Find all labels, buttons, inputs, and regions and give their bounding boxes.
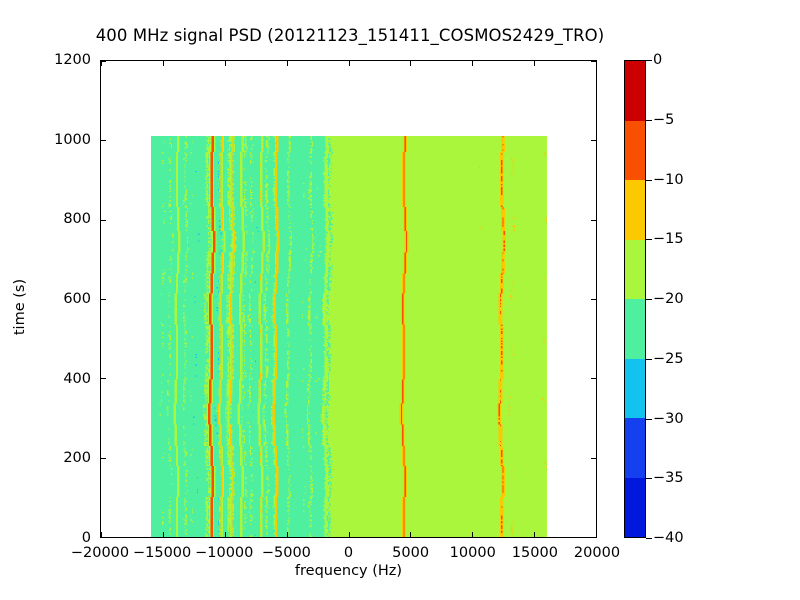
x-tick (225, 532, 226, 537)
y-tick (101, 61, 106, 62)
x-tick-label: 15000 (512, 545, 558, 561)
y-tick-right (591, 299, 596, 300)
y-tick (101, 378, 106, 379)
colorbar-tick-label: −30 (653, 411, 684, 427)
x-tick (596, 532, 597, 537)
x-tick (472, 532, 473, 537)
x-tick-label: 20000 (574, 545, 620, 561)
y-tick-right (591, 61, 596, 62)
colorbar-tick (646, 239, 652, 240)
colorbar-tick (646, 538, 652, 539)
colorbar-tick (646, 299, 652, 300)
y-tick-label: 0 (0, 530, 91, 546)
x-tick-top (472, 61, 473, 66)
x-tick-label: −5000 (262, 545, 311, 561)
x-tick-top (410, 61, 411, 66)
colorbar-band (625, 240, 645, 300)
y-tick-right (591, 458, 596, 459)
colorbar-band (625, 478, 645, 538)
colorbar-tick (646, 359, 652, 360)
x-tick-label: −20000 (71, 545, 129, 561)
colorbar-tick (646, 120, 652, 121)
x-tick-top (534, 61, 535, 66)
colorbar-tick (646, 419, 652, 420)
x-axis-label: frequency (Hz) (100, 563, 597, 579)
colorbar-band (625, 299, 645, 359)
colorbar-band (625, 61, 645, 121)
page-title: 400 MHz signal PSD (20121123_151411_COSM… (0, 26, 700, 45)
y-axis-label: time (s) (12, 279, 28, 335)
colorbar-tick-label: −25 (653, 351, 684, 367)
colorbar-band (625, 180, 645, 240)
colorbar-tick (646, 478, 652, 479)
y-tick (101, 458, 106, 459)
colorbar-tick (646, 180, 652, 181)
x-tick (410, 532, 411, 537)
colorbar-tick (646, 60, 652, 61)
x-tick-top (225, 61, 226, 66)
y-tick-right (591, 220, 596, 221)
y-tick (101, 140, 106, 141)
colorbar-tick-label: −10 (653, 172, 684, 188)
y-tick (101, 537, 106, 538)
colorbar-tick-label: −15 (653, 231, 684, 247)
x-tick-label: 10000 (450, 545, 496, 561)
y-tick-right (591, 537, 596, 538)
y-tick-label: 400 (0, 371, 91, 387)
colorbar-band (625, 418, 645, 478)
plot-axes[interactable] (100, 60, 597, 538)
y-tick (101, 220, 106, 221)
y-tick-label: 1000 (0, 132, 91, 148)
x-tick (287, 532, 288, 537)
figure-canvas: 400 MHz signal PSD (20121123_151411_COSM… (0, 0, 800, 600)
colorbar-tick-label: −20 (653, 291, 684, 307)
y-tick-label: 200 (0, 450, 91, 466)
colorbar-tick-label: 0 (653, 52, 662, 68)
colorbar-band (625, 359, 645, 419)
x-tick-label: −15000 (133, 545, 191, 561)
y-tick-label: 800 (0, 211, 91, 227)
x-tick-label: 5000 (392, 545, 429, 561)
x-tick (534, 532, 535, 537)
x-tick-top (596, 61, 597, 66)
colorbar-tick-label: −40 (653, 530, 684, 546)
colorbar-tick-label: −5 (653, 112, 674, 128)
x-tick (163, 532, 164, 537)
colorbar-band (625, 121, 645, 181)
spectrogram-canvas (151, 136, 547, 537)
spectrogram-image[interactable] (151, 136, 547, 537)
colorbar-tick-label: −35 (653, 470, 684, 486)
x-tick-label: 0 (344, 545, 353, 561)
x-tick-top (349, 61, 350, 66)
y-tick-right (591, 378, 596, 379)
colorbar[interactable] (624, 60, 646, 538)
x-tick-label: −10000 (195, 545, 253, 561)
y-tick (101, 299, 106, 300)
y-tick-label: 1200 (0, 52, 91, 68)
x-tick-top (163, 61, 164, 66)
x-tick (349, 532, 350, 537)
x-tick-top (287, 61, 288, 66)
y-tick-right (591, 140, 596, 141)
